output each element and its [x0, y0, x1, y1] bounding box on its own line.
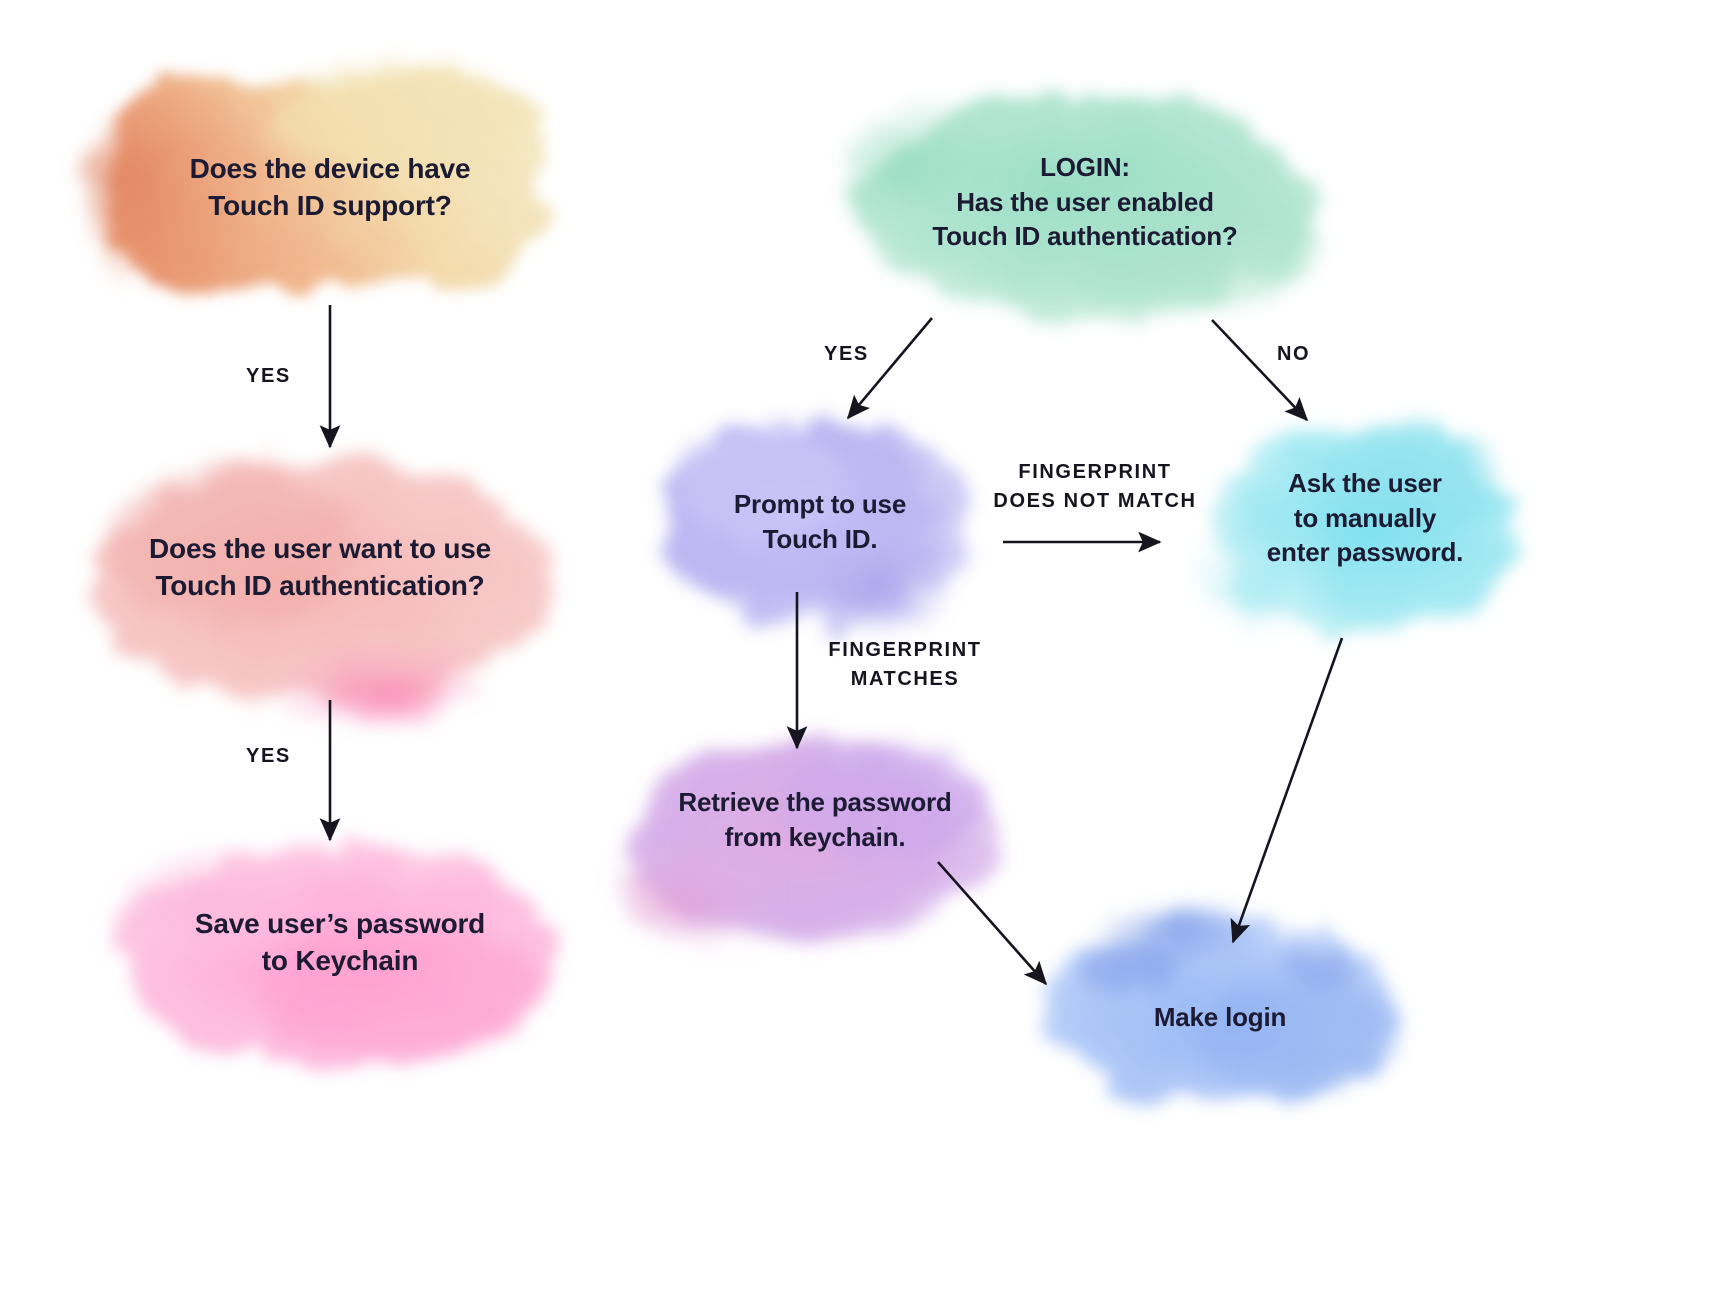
flowchart-canvas: Does the device have Touch ID support? D… — [0, 0, 1727, 1298]
edge-label-login-to-manual: NO — [1277, 340, 1310, 369]
node-retrieve-password-label: Retrieve the password from keychain. — [620, 785, 1010, 854]
edge-label-prompt-to-manual: FINGERPRINT DOES NOT MATCH — [990, 458, 1200, 516]
edge-manual-to-login — [1233, 638, 1342, 942]
node-device-support-label: Does the device have Touch ID support? — [100, 150, 560, 224]
node-save-keychain-label: Save user’s password to Keychain — [120, 905, 560, 979]
node-manual-password-label: Ask the user to manually enter password. — [1205, 466, 1525, 570]
node-login-enabled-label: LOGIN: Has the user enabled Touch ID aut… — [855, 150, 1315, 254]
edge-label-device-to-user: YES — [246, 362, 291, 391]
edge-label-login-to-prompt: YES — [824, 340, 869, 369]
edge-label-prompt-to-retrieve: FINGERPRINT MATCHES — [815, 636, 995, 694]
edge-label-user-to-save: YES — [246, 742, 291, 771]
edge-retrieve-to-login — [938, 862, 1046, 984]
node-make-login-label: Make login — [1045, 1000, 1395, 1035]
node-user-want-label: Does the user want to use Touch ID authe… — [85, 530, 555, 604]
node-prompt-touch-id-label: Prompt to use Touch ID. — [660, 487, 980, 556]
edge-login-to-manual — [1212, 320, 1307, 420]
